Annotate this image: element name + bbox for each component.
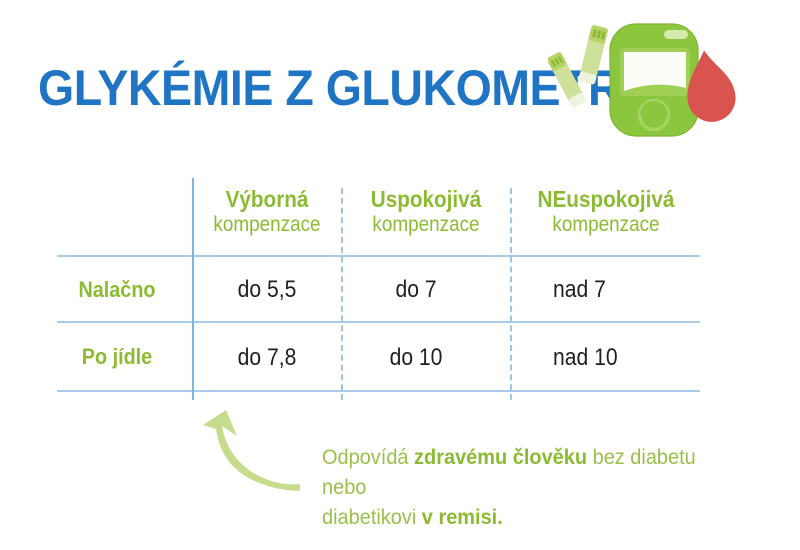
column-header-line2: kompenzace [521, 212, 692, 238]
table-hline-header [57, 255, 700, 257]
table-vline-dashed-1 [341, 188, 343, 400]
table-hline-bottom [57, 390, 700, 392]
column-header-line2: kompenzace [200, 212, 335, 238]
table-vline-main [192, 178, 194, 400]
row-header-nalacno: Nalačno [50, 277, 185, 303]
cell-nalacno-neuspokojiva: nad 7 [553, 276, 606, 304]
cell-po-jidle-vyborna: do 7,8 [201, 344, 333, 372]
footnote-line1-pre: Odpovídá [322, 446, 414, 469]
footnote: Odpovídá zdravému člověku bez diabetu ne… [322, 443, 702, 533]
infographic-page: GLYKÉMIE Z GLUKOMETRU [0, 0, 800, 550]
table-vline-dashed-2 [510, 188, 512, 400]
footnote-line2-bold: v remisi. [422, 506, 503, 529]
cell-po-jidle-neuspokojiva: nad 10 [553, 344, 618, 372]
column-header-uspokojiva: Uspokojivá kompenzace [350, 186, 503, 238]
footnote-line1-bold: zdravému člověku [414, 446, 587, 469]
cell-nalacno-uspokojiva: do 7 [350, 276, 482, 304]
column-header-line1: Uspokojivá [350, 186, 503, 212]
column-header-line1: NEuspokojivá [521, 186, 692, 212]
column-header-vyborna: Výborná kompenzace [200, 186, 335, 238]
cell-po-jidle-uspokojiva: do 10 [350, 344, 482, 372]
column-header-neuspokojiva: NEuspokojivá kompenzace [521, 186, 692, 238]
cell-nalacno-vyborna: do 5,5 [201, 276, 333, 304]
column-header-line2: kompenzace [350, 212, 503, 238]
column-header-line1: Výborná [200, 186, 335, 212]
footnote-line2-pre: diabetikovi [322, 506, 422, 529]
curved-arrow-icon [196, 406, 311, 494]
row-header-po-jidle: Po jídle [50, 344, 185, 370]
table-hline-row1 [57, 321, 700, 323]
